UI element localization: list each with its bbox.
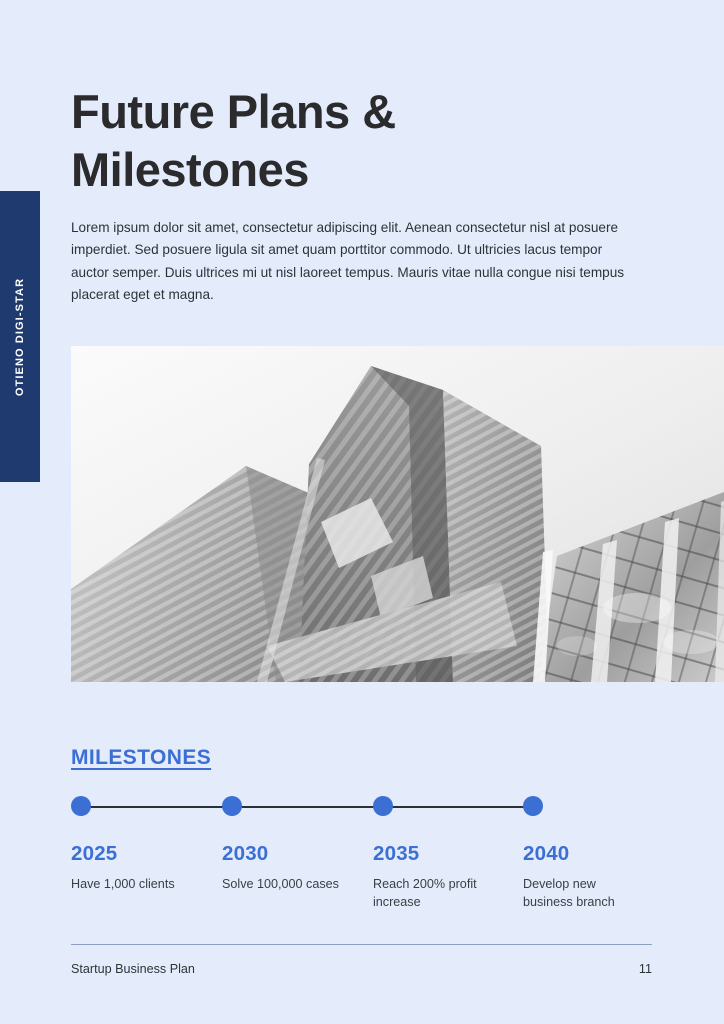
timeline-dot-icon: [222, 796, 242, 816]
milestone-description: Reach 200% profit increase: [373, 875, 493, 911]
milestone-description: Develop new business branch: [523, 875, 643, 911]
milestones-timeline: 2025 Have 1,000 clients 2030 Solve 100,0…: [71, 796, 651, 916]
milestone-item: 2035 Reach 200% profit increase: [373, 796, 523, 911]
hero-image: [71, 346, 724, 682]
footer-page-number: 11: [560, 962, 652, 976]
intro-paragraph: Lorem ipsum dolor sit amet, consectetur …: [71, 217, 641, 307]
milestone-year: 2025: [71, 842, 221, 866]
milestone-item: 2030 Solve 100,000 cases: [222, 796, 372, 893]
timeline-dot-icon: [373, 796, 393, 816]
milestones-heading: MILESTONES: [71, 746, 211, 770]
timeline-dot-icon: [523, 796, 543, 816]
footer-document-name: Startup Business Plan: [71, 962, 195, 976]
timeline-dot-icon: [71, 796, 91, 816]
milestone-item: 2040 Develop new business branch: [523, 796, 673, 911]
building-photo-illustration: [71, 346, 724, 682]
brand-sidebar: OTIENO DIGI-STAR: [0, 191, 40, 482]
page-title: Future Plans & Milestones: [71, 83, 541, 199]
milestone-item: 2025 Have 1,000 clients: [71, 796, 221, 893]
milestone-description: Have 1,000 clients: [71, 875, 191, 893]
milestone-year: 2040: [523, 842, 673, 866]
footer-divider: [71, 944, 652, 945]
milestone-year: 2035: [373, 842, 523, 866]
slide-page: OTIENO DIGI-STAR Future Plans & Mileston…: [0, 0, 724, 1024]
brand-name-label: OTIENO DIGI-STAR: [14, 277, 26, 395]
milestone-year: 2030: [222, 842, 372, 866]
milestone-description: Solve 100,000 cases: [222, 875, 342, 893]
